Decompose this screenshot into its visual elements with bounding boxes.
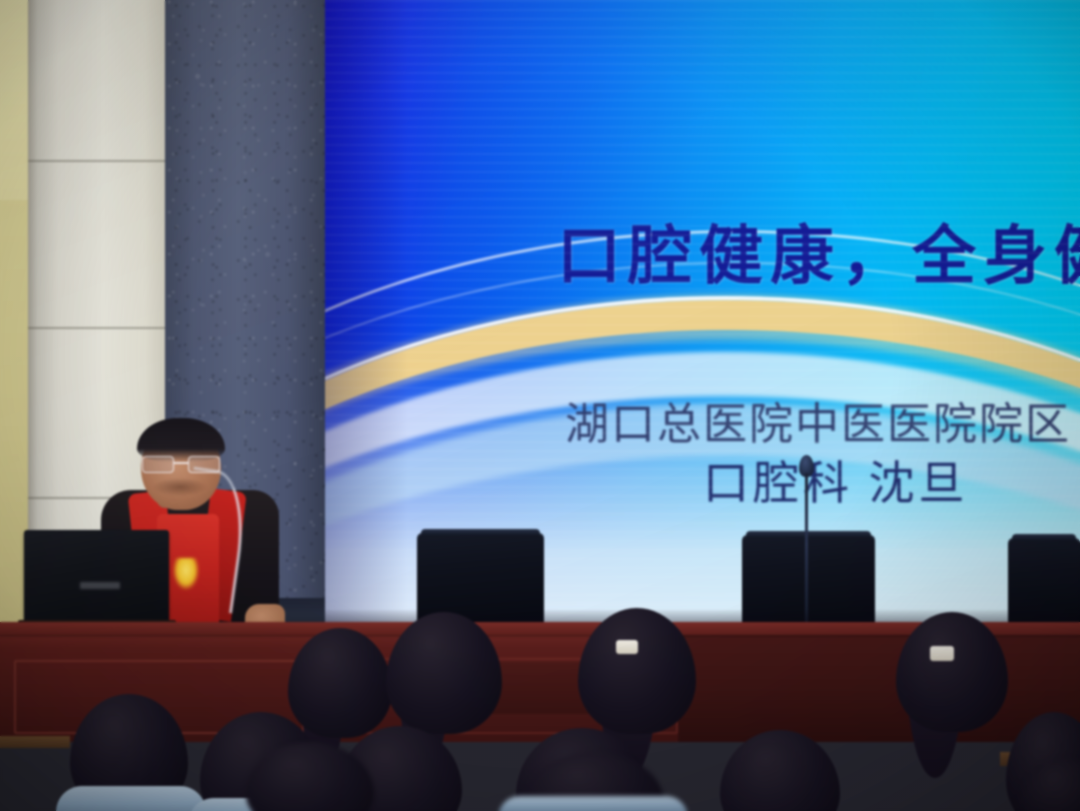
laptop-computer xyxy=(24,530,169,622)
loudspeaker-top xyxy=(421,529,540,535)
eyeglass-bridge xyxy=(174,462,188,464)
pilaster-seam xyxy=(28,160,165,162)
pilaster-seam xyxy=(28,327,165,329)
microphone-stand xyxy=(805,473,808,633)
foreground-uniform xyxy=(498,796,688,811)
side-wall-upper xyxy=(0,0,28,200)
stage-microphone xyxy=(796,455,818,630)
laptop-logo xyxy=(80,582,120,589)
audience-head xyxy=(720,730,840,811)
desk-far-left xyxy=(0,736,70,748)
hair-clip xyxy=(930,646,954,661)
eyeglass-lens-left xyxy=(142,456,174,473)
microphone-gooseneck-rod xyxy=(175,467,252,614)
loudspeaker-top xyxy=(1012,534,1076,540)
school-uniform xyxy=(56,786,206,811)
slide-subtitle-organization: 湖口总医院中医医院院区 xyxy=(565,388,1071,452)
presenter-gooseneck-microphone xyxy=(184,470,254,620)
hair-clip xyxy=(616,640,638,654)
auditorium-lecture-photo: 口腔健康，全身健康 湖口总医院中医医院院区 口腔科 沈旦 xyxy=(0,0,1080,811)
slide-subtitle-department-presenter: 口腔科 沈旦 xyxy=(703,447,969,513)
slide-title: 口腔健康，全身健康 xyxy=(557,205,1080,297)
